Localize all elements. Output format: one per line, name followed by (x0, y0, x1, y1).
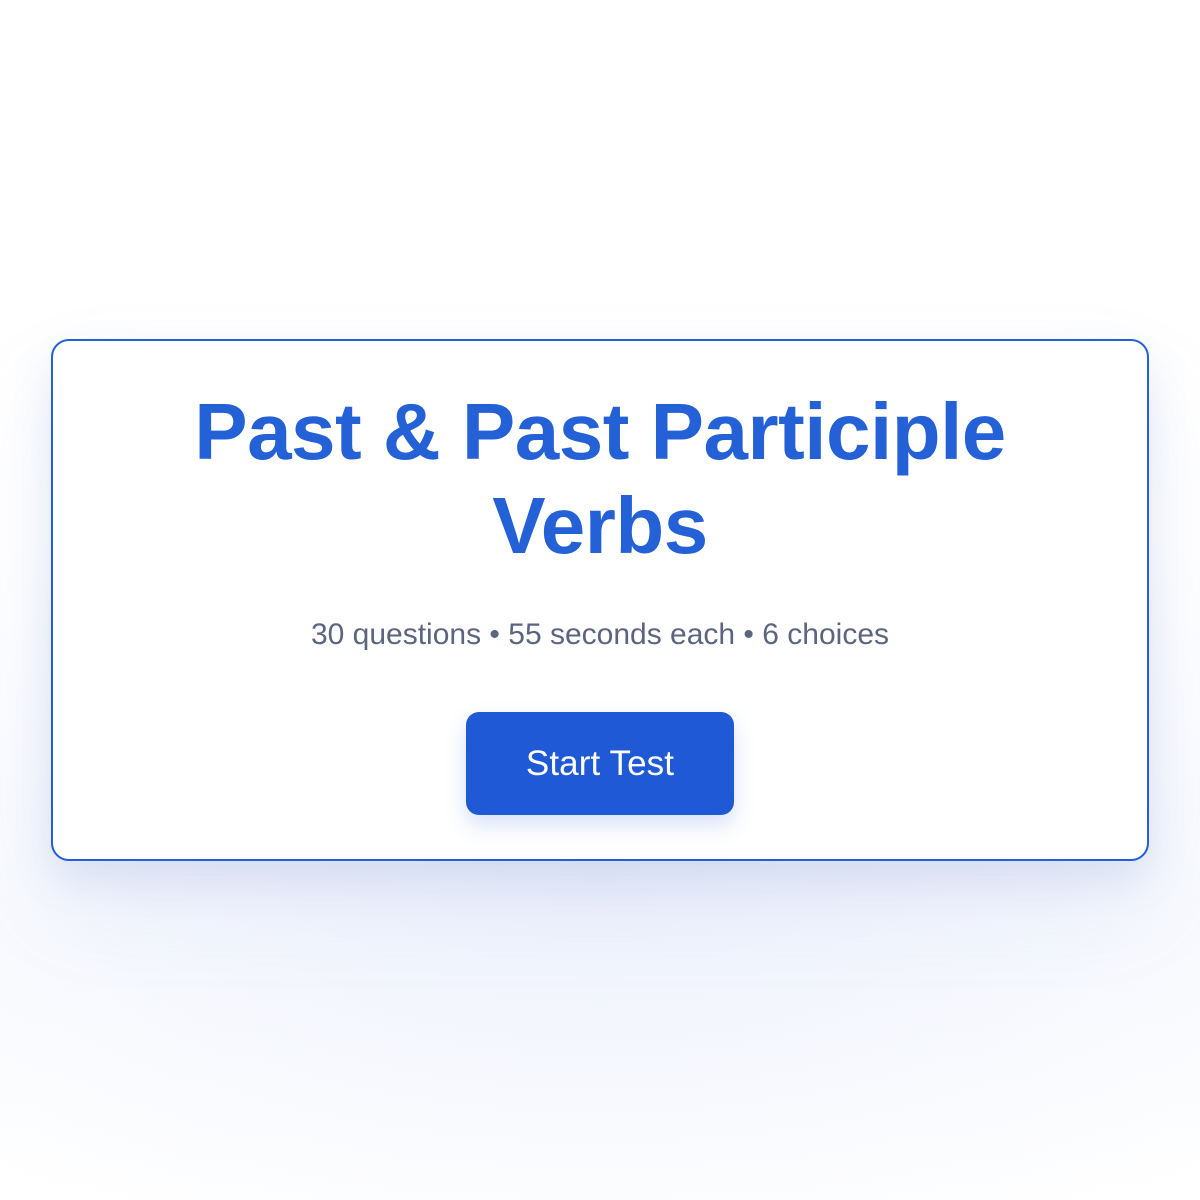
quiz-intro-card: Past & Past Participle Verbs 30 question… (51, 339, 1149, 861)
quiz-meta-summary: 30 questions • 55 seconds each • 6 choic… (311, 615, 889, 654)
content-stage: Past & Past Participle Verbs 30 question… (0, 0, 1200, 1200)
page-title: Past & Past Participle Verbs (170, 385, 1030, 574)
start-test-button[interactable]: Start Test (466, 712, 734, 815)
start-button-row: Start Test (466, 712, 734, 815)
page-root: Past & Past Participle Verbs 30 question… (0, 0, 1200, 1200)
